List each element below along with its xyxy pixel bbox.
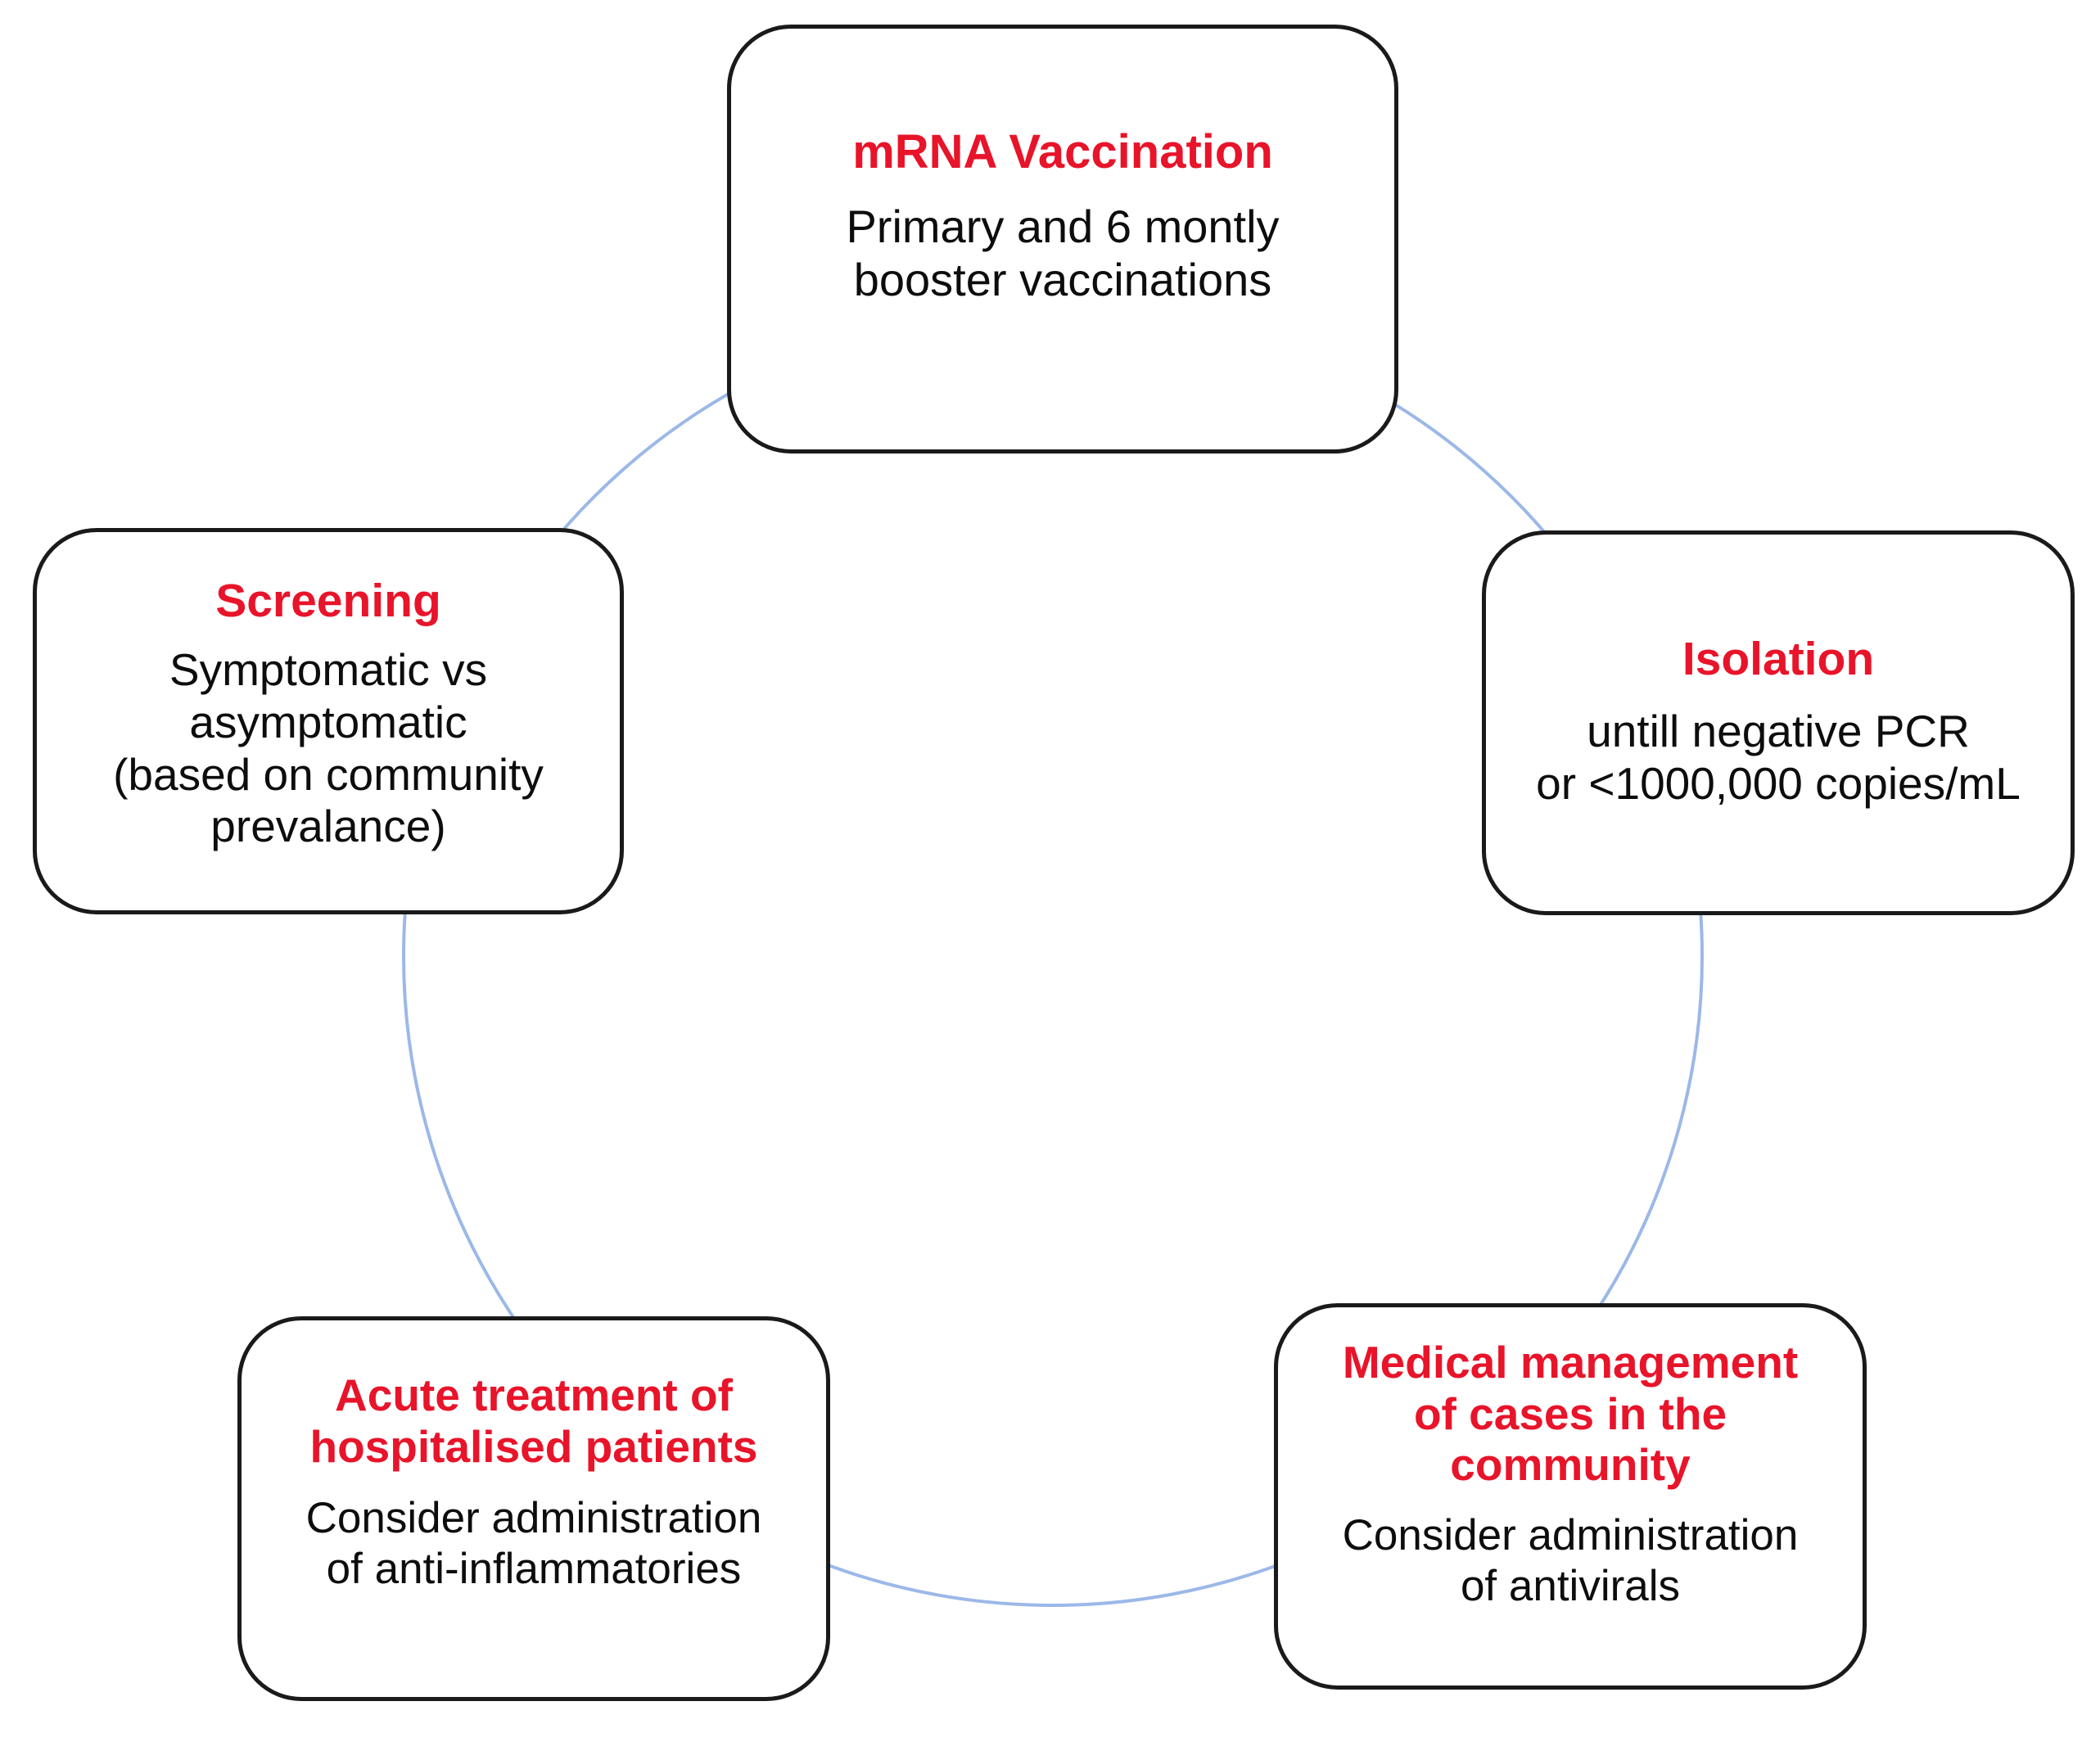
node-isolation[interactable]: Isolation untill negative PCR or <1000,0… xyxy=(1482,530,2075,915)
node-mrna-vaccination[interactable]: mRNA Vaccination Primary and 6 montly bo… xyxy=(727,25,1398,454)
node-title: Acute treatment of hospitalised patients xyxy=(309,1370,757,1472)
node-body: Primary and 6 montly booster vaccination… xyxy=(846,201,1279,307)
node-title: Medical management of cases in the commu… xyxy=(1343,1337,1798,1491)
node-title: Isolation xyxy=(1682,633,1874,686)
node-title: mRNA Vaccination xyxy=(852,125,1273,179)
node-body: Consider administration of antivirals xyxy=(1343,1510,1799,1611)
node-screening[interactable]: Screening Symptomatic vs asymptomatic (b… xyxy=(33,528,624,914)
node-body: untill negative PCR or <1000,000 copies/… xyxy=(1536,706,2021,810)
node-body: Consider administration of anti-inflamma… xyxy=(306,1493,762,1594)
diagram-canvas: mRNA Vaccination Primary and 6 montly bo… xyxy=(0,0,2100,1751)
node-medical-management[interactable]: Medical management of cases in the commu… xyxy=(1274,1303,1867,1690)
node-title: Screening xyxy=(215,575,441,628)
node-body: Symptomatic vs asymptomatic (based on co… xyxy=(113,644,544,853)
node-acute-treatment[interactable]: Acute treatment of hospitalised patients… xyxy=(237,1316,830,1701)
